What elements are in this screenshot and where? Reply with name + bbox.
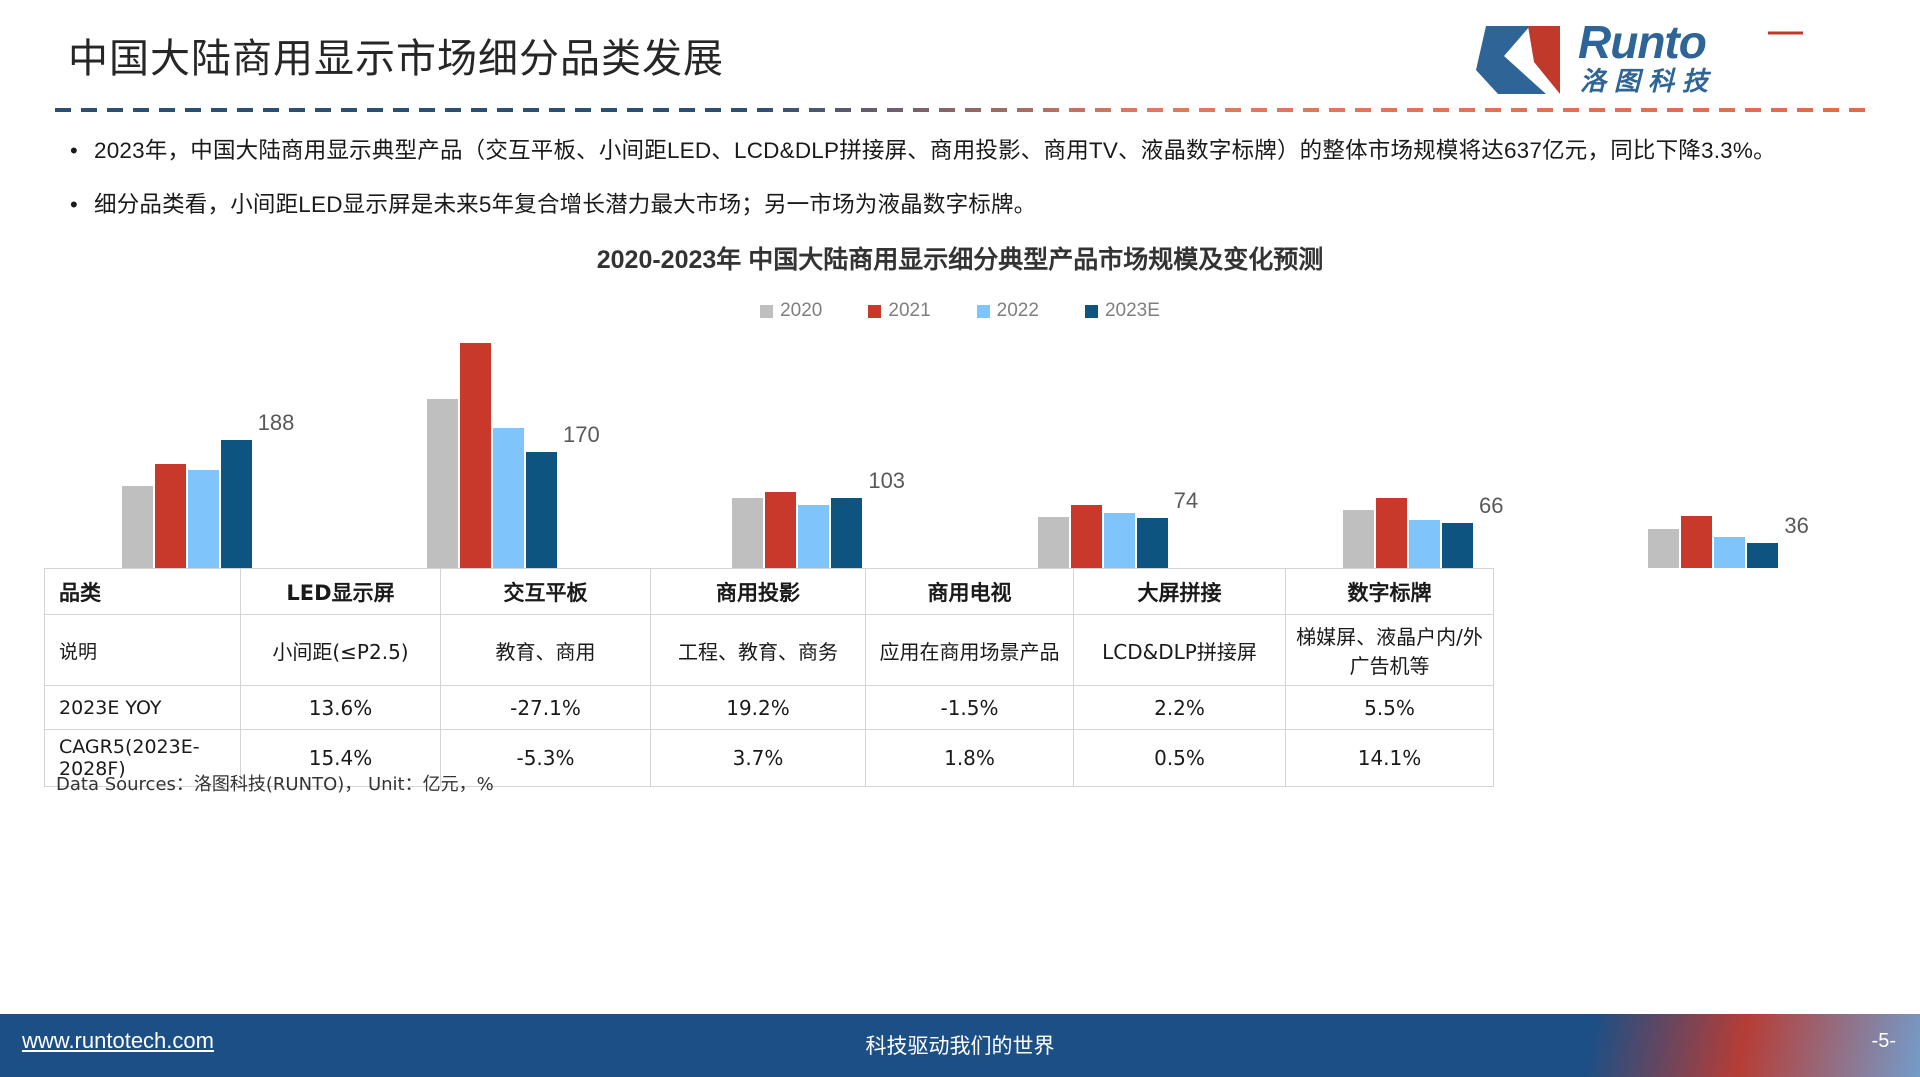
bar-value-label: 74 [1174,488,1198,514]
table-row-label: 2023E YOY [45,686,241,730]
table-row-label: 品类 [45,569,241,615]
legend-label-2023e: 2023E [1105,300,1160,322]
bar [188,470,219,568]
bar [1343,510,1374,568]
bar [1681,516,1712,568]
table-row: 2023E YOY13.6%-27.1%19.2%-1.5%2.2%5.5% [45,686,1494,730]
table-cell: 3.7% [651,730,866,787]
bar [526,452,557,568]
bar-value-label: 170 [563,422,600,448]
bar-group [732,336,862,568]
page-title: 中国大陆商用显示市场细分品类发展 [68,26,724,84]
table-cell: LED显示屏 [241,569,441,615]
bar-value-label: 188 [258,410,295,436]
table-cell: 0.5% [1074,730,1286,787]
source-note: Data Sources：洛图科技(RUNTO)， Unit：亿元，% [56,770,494,796]
chart-legend: 2020 2021 2022 2023E [0,300,1920,322]
table-row-label: 说明 [45,615,241,686]
bar [460,343,491,568]
legend-label-2020: 2020 [780,300,822,322]
legend-item-2022: 2022 [977,300,1039,322]
bar-group [122,336,252,568]
bar [427,399,458,568]
bar-value-label: 103 [868,468,905,494]
bar-value-label: 36 [1784,513,1808,539]
bar [1038,517,1069,568]
table-cell: 交互平板 [441,569,651,615]
table-cell: 数字标牌 [1286,569,1494,615]
table-cell: -27.1% [441,686,651,730]
category-table: 品类LED显示屏交互平板商用投影商用电视大屏拼接数字标牌说明小间距(≤P2.5)… [44,568,1494,787]
bar-group [427,336,557,568]
legend-swatch-2023e [1085,305,1098,318]
table-cell: 梯媒屏、液晶户内/外广告机等 [1286,615,1494,686]
legend-item-2023e: 2023E [1085,300,1160,322]
legend-label-2022: 2022 [997,300,1039,322]
bar-group [1648,336,1778,568]
legend-item-2020: 2020 [760,300,822,322]
legend-swatch-2021 [868,305,881,318]
bar-value-label: 66 [1479,493,1503,519]
bar-group [1343,336,1473,568]
table-cell: 商用电视 [866,569,1074,615]
bullet-item-1: 2023年，中国大陆商用显示典型产品（交互平板、小间距LED、LCD&DLP拼接… [62,130,1872,172]
header-divider [55,108,1873,112]
table-cell: 5.5% [1286,686,1494,730]
bar [765,492,796,568]
table-row: 品类LED显示屏交互平板商用投影商用电视大屏拼接数字标牌 [45,569,1494,615]
table-cell: 19.2% [651,686,866,730]
table-cell: 工程、教育、商务 [651,615,866,686]
bar [122,486,153,568]
table-cell: -1.5% [866,686,1074,730]
bar [732,498,763,568]
bar [1376,498,1407,568]
table-cell: LCD&DLP拼接屏 [1074,615,1286,686]
bar [1714,537,1745,568]
runto-logo-svg: Runto 洛图科技 [1468,8,1888,96]
table-cell: 1.8% [866,730,1074,787]
runto-logo: Runto 洛图科技 [1468,8,1888,96]
table-cell: 大屏拼接 [1074,569,1286,615]
legend-swatch-2022 [977,305,990,318]
bar [1071,505,1102,568]
logo-mark-icon [1476,26,1560,94]
bullet-list: 2023年，中国大陆商用显示典型产品（交互平板、小间距LED、LCD&DLP拼接… [62,130,1872,238]
bar [1409,520,1440,568]
bar [221,440,252,568]
table-cell: 小间距(≤P2.5) [241,615,441,686]
svg-text:Runto: Runto [1578,16,1706,68]
slide: 中国大陆商用显示市场细分品类发展 Runto 洛图科技 2023年，中国大陆商用… [0,0,1920,1077]
footer-bar: www.runtotech.com 科技驱动我们的世界 -5- [0,1014,1920,1077]
bullet-item-2: 细分品类看，小间距LED显示屏是未来5年复合增长潜力最大市场；另一市场为液晶数字… [62,184,1872,226]
table-cell: 2.2% [1074,686,1286,730]
bar [1104,513,1135,568]
bar [798,505,829,568]
table-cell: 14.1% [1286,730,1494,787]
table-cell: 教育、商用 [441,615,651,686]
bar [493,428,524,568]
bar-group [1038,336,1168,568]
bar-chart-plot: 188170103746636 [44,336,1876,568]
footer-slogan: 科技驱动我们的世界 [0,1030,1920,1060]
bar [831,498,862,568]
bar [1648,529,1679,568]
table-cell: 13.6% [241,686,441,730]
bar [1137,518,1168,568]
svg-text:洛图科技: 洛图科技 [1580,67,1716,96]
table-cell: 商用投影 [651,569,866,615]
table-cell: 应用在商用场景产品 [866,615,1074,686]
chart-title: 2020-2023年 中国大陆商用显示细分典型产品市场规模及变化预测 [0,240,1920,276]
legend-swatch-2020 [760,305,773,318]
bar [155,464,186,568]
footer-page-number: -5- [1872,1030,1896,1053]
legend-label-2021: 2021 [888,300,930,322]
legend-item-2021: 2021 [868,300,930,322]
bar [1747,543,1778,568]
bar [1442,523,1473,568]
table-row: 说明小间距(≤P2.5)教育、商用工程、教育、商务应用在商用场景产品LCD&DL… [45,615,1494,686]
